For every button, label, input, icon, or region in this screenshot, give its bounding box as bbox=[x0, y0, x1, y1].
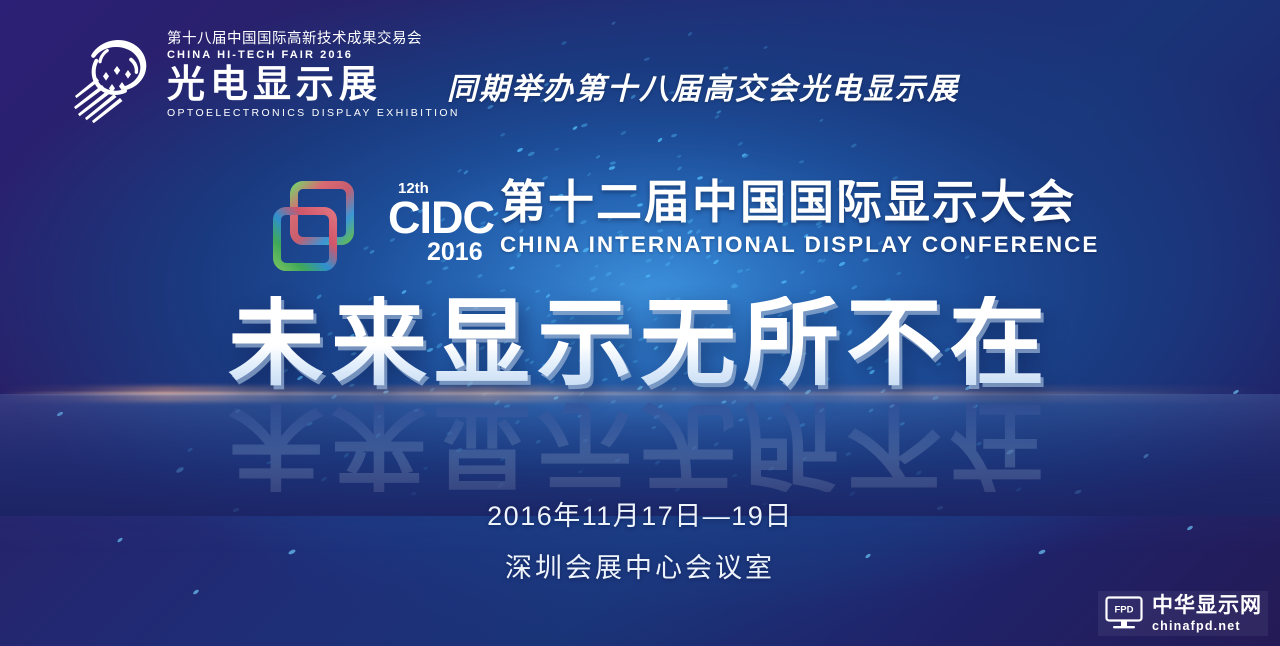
cidc-acronym: CIDC bbox=[388, 195, 494, 240]
cidc-title-cn: 第十二届中国国际显示大会 bbox=[500, 178, 1099, 228]
chtf-title-en: OPTOELECTRONICS DISPLAY EXHIBITION bbox=[167, 106, 460, 121]
chtf-line-en: CHINA HI-TECH FAIR 2016 bbox=[167, 48, 460, 63]
cidc-title-en: CHINA INTERNATIONAL DISPLAY CONFERENCE bbox=[500, 231, 1099, 258]
watermark-site-url: chinafpd.net bbox=[1152, 620, 1262, 633]
slogan-text: 未来显示无所不在 bbox=[228, 296, 1052, 392]
chtf-text-block: 第十八届中国国际高新技术成果交易会 CHINA HI-TECH FAIR 201… bbox=[167, 31, 460, 121]
event-venue: 深圳会展中心会议室 bbox=[0, 546, 1280, 585]
chtf-title-cn: 光电显示展 bbox=[167, 64, 460, 107]
site-watermark[interactable]: FPD 中华显示网 chinafpd.net bbox=[1098, 591, 1268, 637]
slogan-wrap: 未来显示无所不在 bbox=[0, 296, 1280, 396]
tagline: 同期举办第十八届高交会光电显示展 bbox=[447, 64, 959, 108]
chtf-line-cn: 第十八届中国国际高新技术成果交易会 bbox=[167, 31, 460, 48]
cidc-block: 12th CIDC 2016 第十二届中国国际显示大会 CHINA INTERN… bbox=[268, 176, 1099, 276]
slogan-reflection-text: 未来显示无所不在 bbox=[228, 396, 1052, 492]
cidc-title-block: 第十二届中国国际显示大会 CHINA INTERNATIONAL DISPLAY… bbox=[500, 176, 1099, 258]
event-banner: 第十八届中国国际高新技术成果交易会 CHINA HI-TECH FAIR 201… bbox=[0, 0, 1280, 646]
event-date: 2016年11月17日—19日 bbox=[0, 494, 1280, 533]
chtf-swirl-emblem-icon bbox=[72, 28, 158, 124]
cidc-overlapping-squares-logo-icon bbox=[268, 178, 364, 276]
watermark-text-block: 中华显示网 chinafpd.net bbox=[1152, 595, 1262, 633]
chtf-logo: 第十八届中国国际高新技术成果交易会 CHINA HI-TECH FAIR 201… bbox=[72, 28, 460, 124]
fpd-icon-label: FPD bbox=[1115, 605, 1134, 616]
cidc-wordmark: 12th CIDC 2016 bbox=[368, 176, 488, 274]
cidc-year: 2016 bbox=[427, 238, 483, 267]
slogan-reflection: 未来显示无所不在 bbox=[0, 396, 1280, 500]
watermark-site-cn: 中华显示网 bbox=[1152, 595, 1262, 616]
fpd-monitor-icon: FPD bbox=[1104, 595, 1144, 631]
